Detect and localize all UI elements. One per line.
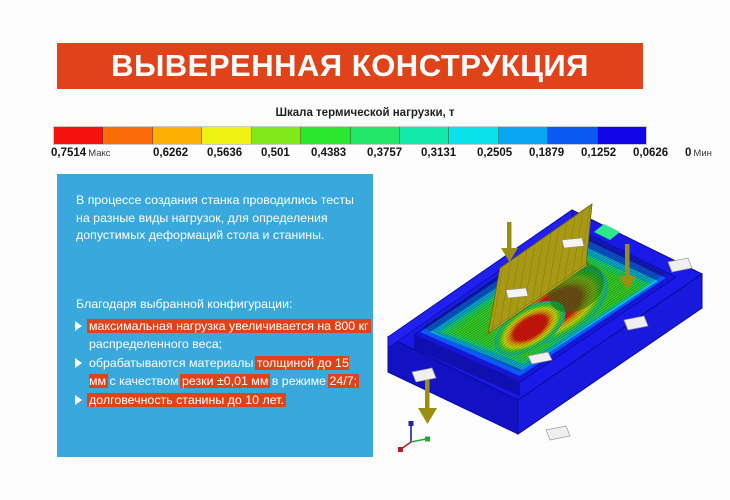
scale-tick-9: 0,1252 [581,146,616,161]
highlighted-phrase: 24/7; [330,374,358,388]
color-scale-caption: Шкала термической нагрузки, т [0,107,730,119]
page-title: ВЫВЕРЕННАЯ КОНСТРУКЦИЯ [111,48,589,84]
scale-tick-11: 0Мин [685,146,712,161]
coordinate-axis-triad-icon [395,418,441,458]
scale-tick-value: 0,6262 [153,147,188,159]
color-scale-segment-2 [153,127,202,144]
scale-tick-6: 0,3131 [421,146,456,161]
scale-tick-value: 0,2505 [477,147,512,159]
color-scale-segment-1 [103,127,152,144]
highlighted-phrase: максимальная нагрузка [89,319,226,333]
highlighted-phrase: долговечность станины до 10 лет. [89,393,284,407]
benefit-bullet-0: максимальная нагрузка увеличивается на 8… [73,317,369,353]
scale-min-label: Мин [693,148,711,159]
plain-phrase: обрабатываются материалы [89,356,253,370]
color-scale-segment-4 [252,127,301,144]
color-scale-segment-6 [351,127,400,144]
scale-tick-value: 0,5636 [207,147,242,159]
scale-tick-0: 0,7514Макс [51,146,111,161]
scale-tick-value: 0,0626 [633,147,668,159]
scale-tick-2: 0,5636 [207,146,242,161]
benefit-bullet-text: долговечность станины до 10 лет. [89,393,284,407]
triangle-right-icon [75,358,82,368]
benefits-bullet-list: максимальная нагрузка увеличивается на 8… [73,317,369,410]
color-scale-segment-7 [400,127,449,144]
color-scale-segment-11 [598,127,646,144]
scale-tick-4: 0,4383 [311,146,346,161]
color-scale-segment-5 [301,127,350,144]
scale-max-label: Макс [88,148,110,159]
scale-tick-1: 0,6262 [153,146,188,161]
scale-tick-3: 0,501 [261,146,290,161]
scale-tick-value: 0,1252 [581,147,616,159]
panel-lead-line: Благодаря выбранной конфигурации: [76,296,366,314]
color-scale-segment-9 [499,127,548,144]
color-scale-segment-3 [202,127,251,144]
benefit-bullet-1: обрабатываются материалы толщиной до 15 … [73,354,369,390]
scale-tick-value: 0,501 [261,147,290,159]
scale-tick-7: 0,2505 [477,146,512,161]
scale-tick-value: 0,7514 [51,147,86,159]
color-scale-tick-labels: 0,7514Макс0,62620,56360,5010,43830,37570… [49,146,689,162]
benefit-bullet-text: максимальная нагрузка увеличивается на 8… [89,319,369,351]
info-panel: В процессе создания станка проводились т… [57,174,373,457]
color-scale-segment-8 [449,127,498,144]
panel-intro-paragraph: В процессе создания станка проводились т… [76,192,360,245]
scale-tick-8: 0,1879 [529,146,564,161]
scale-tick-value: 0,4383 [311,147,346,159]
thermal-color-scale-bar [53,126,647,145]
scale-tick-5: 0,3757 [367,146,402,161]
scale-tick-value: 0 [685,147,691,159]
benefit-bullet-2: долговечность станины до 10 лет. [73,391,369,409]
color-scale-segment-0 [54,127,103,144]
benefit-bullet-text: обрабатываются материалы толщиной до 15 … [89,356,357,388]
scale-tick-value: 0,1879 [529,147,564,159]
scale-tick-value: 0,3131 [421,147,456,159]
triangle-right-icon [75,395,82,405]
plain-phrase: распределенного веса; [89,337,222,351]
scale-tick-10: 0,0626 [633,146,668,161]
plain-phrase: с качеством [106,374,178,388]
scale-tick-value: 0,3757 [367,147,402,159]
color-scale-segment-10 [548,127,597,144]
highlighted-phrase: увеличивается на 800 кг [229,319,369,333]
slide-title-banner: ВЫВЕРЕННАЯ КОНСТРУКЦИЯ [57,43,643,89]
plain-phrase: в режиме [268,374,329,388]
triangle-right-icon [75,321,82,331]
highlighted-phrase: резки ±0,01 мм [182,374,268,388]
